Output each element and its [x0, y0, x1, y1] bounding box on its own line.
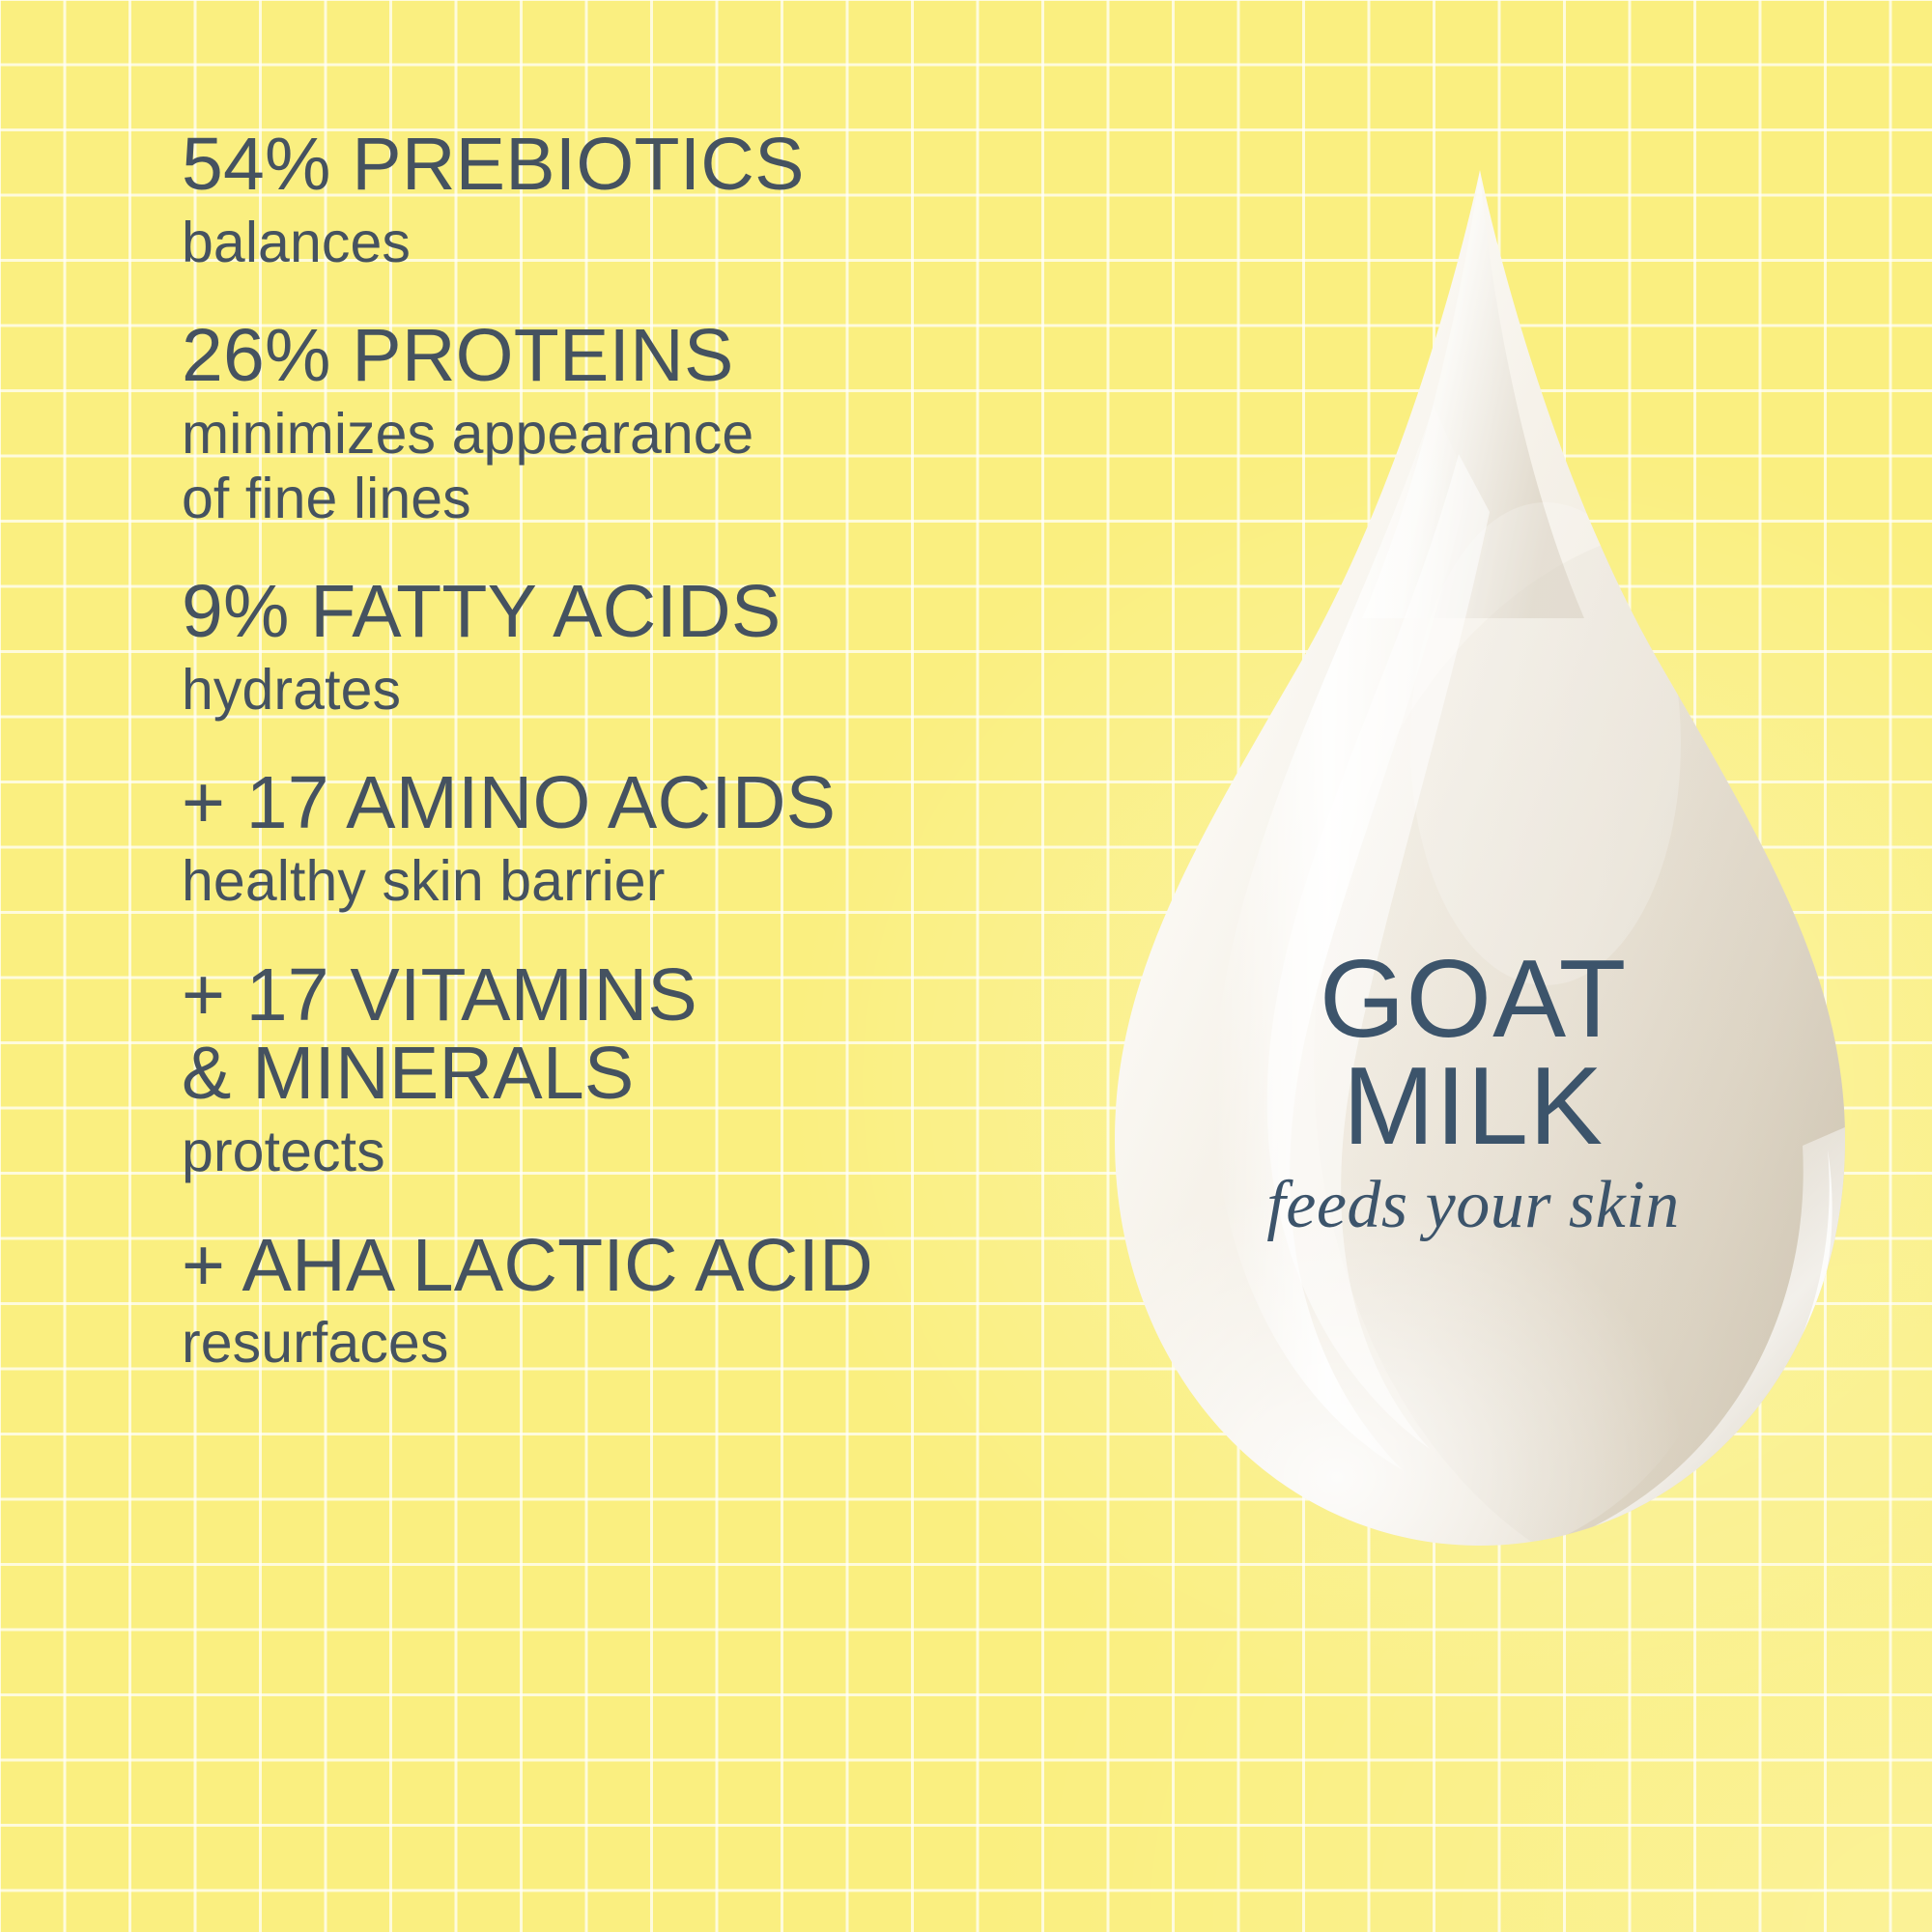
- benefit-item-amino-acids: + 17 AMINO ACIDS healthy skin barrier: [182, 764, 1051, 913]
- milk-droplet-icon: [1043, 164, 1913, 1594]
- benefit-title: + AHA LACTIC ACID: [182, 1227, 1051, 1306]
- benefit-item-vitamins-minerals: + 17 VITAMINS & MINERALS protects: [182, 956, 1051, 1184]
- benefit-description: minimizes appearance of fine lines: [182, 402, 1051, 530]
- milk-droplet-illustration: [1043, 164, 1913, 1594]
- benefit-item-proteins: 26% PROTEINS minimizes appearance of fin…: [182, 317, 1051, 530]
- benefit-description: resurfaces: [182, 1311, 1051, 1376]
- benefit-title: 26% PROTEINS: [182, 317, 1051, 396]
- benefit-description: balances: [182, 211, 1051, 275]
- benefits-list: 54% PREBIOTICS balances 26% PROTEINS min…: [182, 126, 1051, 1376]
- droplet-bounce-light: [1082, 1034, 1719, 1575]
- benefit-title: + 17 VITAMINS & MINERALS: [182, 956, 1051, 1114]
- benefit-item-prebiotics: 54% PREBIOTICS balances: [182, 126, 1051, 274]
- product-benefits-poster: 54% PREBIOTICS balances 26% PROTEINS min…: [0, 0, 1932, 1932]
- benefit-title: 9% FATTY ACIDS: [182, 573, 1051, 652]
- benefit-item-fatty-acids: 9% FATTY ACIDS hydrates: [182, 573, 1051, 722]
- benefit-description: hydrates: [182, 658, 1051, 723]
- benefit-description: protects: [182, 1120, 1051, 1184]
- benefit-description: healthy skin barrier: [182, 849, 1051, 914]
- benefit-title: 54% PREBIOTICS: [182, 126, 1051, 205]
- benefit-title: + 17 AMINO ACIDS: [182, 764, 1051, 843]
- benefit-item-aha-lactic-acid: + AHA LACTIC ACID resurfaces: [182, 1227, 1051, 1376]
- droplet-soft-reflection: [1410, 502, 1681, 985]
